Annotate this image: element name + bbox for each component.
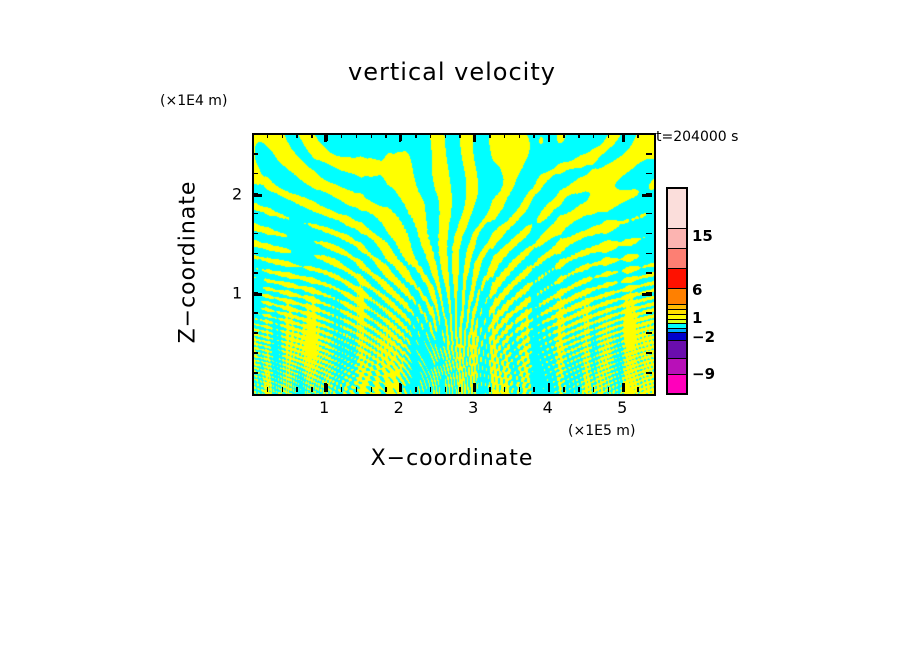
figure-canvas: vertical velocity (×1E4 m) t=204000 s 12… [0,0,904,654]
x-tick-top [341,133,343,138]
x-tick-bottom [371,387,373,392]
x-tick-major-top [399,133,401,142]
x-tick-top [459,133,461,138]
x-tick-major-bottom [324,383,326,392]
x-tick-top [519,133,521,138]
x-tick-bottom [341,387,343,392]
x-tick-label: 5 [617,398,627,417]
x-tick-major-top [548,133,550,142]
x-tick-top [533,133,535,138]
x-tick-major-top [324,133,326,142]
y-tick-left [252,173,258,175]
x-tick-top [578,133,580,138]
x-tick-top [415,133,417,138]
x-tick-bottom [578,387,580,392]
x-tick-bottom [533,387,535,392]
y-tick-left [252,332,258,334]
x-tick-bottom [311,387,313,392]
x-tick-bottom [415,387,417,392]
x-tick-top [430,133,432,138]
x-tick-top [296,133,298,138]
y-tick-right [646,352,652,354]
y-tick-major-right [642,194,652,196]
x-tick-bottom [296,387,298,392]
x-tick-top [385,133,387,138]
x-tick-major-bottom [622,383,624,392]
x-tick-top [445,133,447,138]
colorbar-tick-label: −2 [692,328,715,346]
x-tick-bottom [385,387,387,392]
x-tick-major-bottom [473,383,475,392]
x-tick-bottom [593,387,595,392]
colorbar-band [668,375,686,393]
x-tick-top [563,133,565,138]
x-tick-bottom [356,387,358,392]
y-tick-major-left [252,194,262,196]
x-tick-top [489,133,491,138]
colorbar-tick-label: 6 [692,281,702,299]
y-tick-left [252,372,258,374]
colorbar-tick-label: 15 [692,227,713,245]
x-tick-top [282,133,284,138]
x-tick-major-bottom [548,383,550,392]
colorbar-band [668,333,686,341]
colorbar [666,187,688,395]
x-tick-label: 4 [543,398,553,417]
x-tick-bottom [637,387,639,392]
x-tick-bottom [519,387,521,392]
x-tick-bottom [608,387,610,392]
y-tick-major-left [252,293,262,295]
y-tick-major-right [642,293,652,295]
x-tick-label: 2 [394,398,404,417]
x-tick-top [311,133,313,138]
x-tick-top [371,133,373,138]
y-tick-right [646,153,652,155]
y-tick-left [252,233,258,235]
y-tick-right [646,272,652,274]
x-axis-unit-label: (×1E5 m) [568,423,635,439]
contour-field [254,135,654,394]
x-tick-label: 3 [468,398,478,417]
x-tick-top [356,133,358,138]
colorbar-band [668,341,686,360]
x-tick-top [267,133,269,138]
colorbar-band [668,359,686,375]
y-tick-left [252,352,258,354]
colorbar-band [668,229,686,249]
page-title: vertical velocity [252,58,652,86]
colorbar-band [668,249,686,269]
y-tick-right [646,332,652,334]
y-tick-right [646,233,652,235]
y-tick-right [646,173,652,175]
x-tick-top [637,133,639,138]
x-tick-bottom [563,387,565,392]
x-tick-top [504,133,506,138]
x-tick-bottom [489,387,491,392]
x-axis-title: X−coordinate [252,446,652,471]
x-tick-bottom [282,387,284,392]
x-tick-top [593,133,595,138]
x-tick-major-top [473,133,475,142]
x-tick-major-top [622,133,624,142]
x-tick-label: 1 [319,398,329,417]
y-axis-unit-label: (×1E4 m) [160,93,227,109]
y-tick-left [252,213,258,215]
y-tick-left [252,272,258,274]
x-tick-top [608,133,610,138]
colorbar-band [668,289,686,306]
timestamp-annotation: t=204000 s [656,129,738,145]
colorbar-band [668,189,686,229]
y-tick-left [252,153,258,155]
y-tick-left [252,253,258,255]
x-tick-bottom [459,387,461,392]
y-tick-right [646,312,652,314]
colorbar-tick-label: −9 [692,365,715,383]
x-tick-bottom [504,387,506,392]
x-tick-bottom [430,387,432,392]
y-axis-title: Z−coordinate [176,181,201,344]
y-tick-right [646,372,652,374]
y-tick-right [646,253,652,255]
colorbar-tick-label: 1 [692,309,702,327]
x-tick-major-bottom [399,383,401,392]
y-tick-left [252,312,258,314]
x-tick-bottom [267,387,269,392]
y-tick-label: 1 [232,284,242,303]
y-tick-right [646,213,652,215]
plot-area [252,133,656,396]
colorbar-band [668,269,686,289]
x-tick-bottom [445,387,447,392]
y-tick-label: 2 [232,185,242,204]
